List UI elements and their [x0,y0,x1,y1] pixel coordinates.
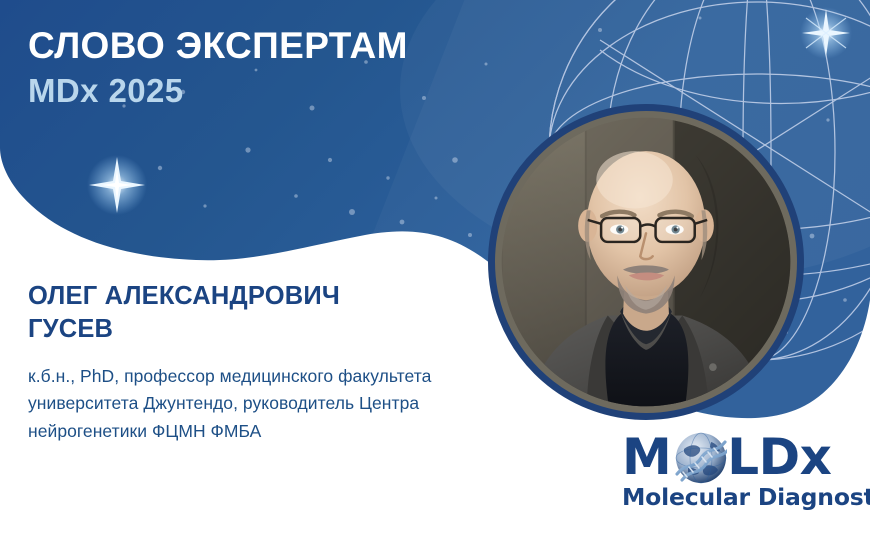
logo-tagline: Molecular DiagnostiX [622,486,848,510]
page-subtitle: MDx 2025 [28,72,548,111]
portrait-photo [495,111,797,413]
avatar [488,104,804,420]
speaker-credentials: к.б.н., PhD, профессор медицинского факу… [28,363,458,444]
moldx-logo: M LDx [622,430,848,516]
speaker-block: ОЛЕГ АЛЕКСАНДРОВИЧ ГУСЕВ к.б.н., PhD, пр… [28,280,458,445]
page-title: СЛОВО ЭКСПЕРТАМ [28,26,548,66]
speaker-name-line-1: ОЛЕГ АЛЕКСАНДРОВИЧ [28,280,458,313]
expert-speaker-banner: СЛОВО ЭКСПЕРТАМ MDx 2025 ОЛЕГ АЛЕКСАНДРО… [0,0,870,540]
logo-letter-m: M [622,432,671,482]
logo-letters-ldx: LDx [727,432,831,482]
logo-wordmark: M LDx [622,430,848,484]
headline-block: СЛОВО ЭКСПЕРТАМ MDx 2025 [28,26,548,111]
speaker-name: ОЛЕГ АЛЕКСАНДРОВИЧ ГУСЕВ [28,280,458,345]
speaker-name-line-2: ГУСЕВ [28,313,458,346]
globe-dna-icon [675,432,727,484]
